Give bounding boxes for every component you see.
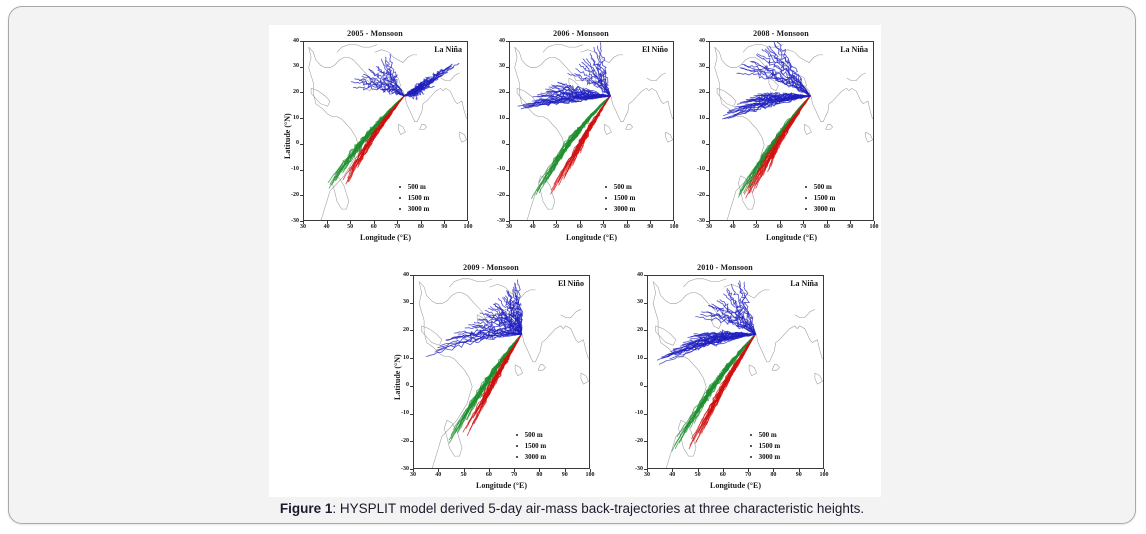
trajectory-layer <box>518 43 610 199</box>
legend-marker-icon <box>750 434 752 436</box>
coastline-path <box>375 50 417 63</box>
x-tick-label: 30 <box>291 224 315 230</box>
y-tick-label: 20 <box>683 89 705 95</box>
coastline-path <box>666 132 673 142</box>
trajectory-path <box>562 96 611 158</box>
y-tick-label: 30 <box>277 63 299 69</box>
legend-marker-icon <box>605 208 607 210</box>
x-tick-label: 30 <box>401 472 425 478</box>
y-tick-label: 20 <box>277 89 299 95</box>
coastline-path <box>804 124 811 134</box>
legend-label: 1500 m <box>814 194 836 202</box>
y-tick-label: 10 <box>683 115 705 121</box>
y-tick-label: -10 <box>277 166 299 172</box>
coastline-path <box>717 88 736 106</box>
y-axis-tick <box>644 303 647 304</box>
coastline-path <box>419 282 472 470</box>
legend-item: 3000 m <box>399 203 430 214</box>
coastline-path <box>309 47 359 221</box>
figure-card: 2005 - MonsoonLa Niña500 m1500 m3000 m30… <box>8 6 1136 524</box>
x-tick-label: 80 <box>761 472 785 478</box>
trajectory-path <box>763 96 810 175</box>
y-axis-tick <box>506 170 509 171</box>
x-tick-label: 100 <box>456 224 480 230</box>
enso-phase-label: El Niño <box>642 45 668 54</box>
y-tick-label: 10 <box>621 355 643 361</box>
trajectory-path <box>369 96 404 148</box>
chart-panel-2005: 2005 - MonsoonLa Niña500 m1500 m3000 m30… <box>277 29 473 247</box>
y-tick-label: 30 <box>683 63 705 69</box>
coastline-layer <box>419 279 588 469</box>
trajectory-path <box>761 96 810 176</box>
y-axis-tick <box>706 195 709 196</box>
y-axis-tick <box>644 358 647 359</box>
legend-marker-icon <box>805 197 807 199</box>
trajectory-path <box>768 96 811 172</box>
x-tick-label: 40 <box>660 472 684 478</box>
x-tick-label: 40 <box>721 224 745 230</box>
y-axis-tick <box>706 118 709 119</box>
legend-item: 500 m <box>805 181 836 192</box>
y-axis-title: Latitude (°N) <box>283 113 292 159</box>
y-tick-label: -20 <box>621 438 643 444</box>
trajectory-layer <box>657 281 755 451</box>
legend-label: 3000 m <box>814 205 836 213</box>
panel-title: 2005 - Monsoon <box>277 29 473 38</box>
x-tick-label: 60 <box>362 224 386 230</box>
legend-item: 500 m <box>516 429 547 440</box>
x-tick-label: 40 <box>315 224 339 230</box>
x-tick-label: 60 <box>768 224 792 230</box>
trajectory-path <box>487 334 522 390</box>
x-axis-title: Longitude (°E) <box>413 481 590 490</box>
trajectory-path <box>358 96 405 168</box>
x-tick-label: 50 <box>744 224 768 230</box>
legend-marker-icon <box>516 434 518 436</box>
coastline-path <box>422 326 442 345</box>
coastline-path <box>826 124 833 129</box>
trajectory-path <box>558 96 611 163</box>
coastline-path <box>311 88 330 106</box>
y-tick-label: -10 <box>683 166 705 172</box>
caption-label: Figure 1 <box>280 501 333 516</box>
height-legend: 500 m1500 m3000 m <box>805 181 836 214</box>
coastline-path <box>543 45 583 53</box>
y-tick-label: -20 <box>683 192 705 198</box>
y-tick-label: 10 <box>483 115 505 121</box>
y-axis-tick <box>506 41 509 42</box>
trajectory-path <box>404 67 453 96</box>
y-axis-tick <box>300 195 303 196</box>
y-tick-label: 40 <box>387 272 409 278</box>
legend-marker-icon <box>750 445 752 447</box>
legend-marker-icon <box>750 456 752 458</box>
y-axis-tick <box>410 330 413 331</box>
coastline-path <box>449 279 492 287</box>
y-axis-tick <box>644 275 647 276</box>
y-tick-label: 30 <box>387 299 409 305</box>
y-axis-tick <box>706 92 709 93</box>
legend-label: 500 m <box>614 183 632 191</box>
trajectory-layer <box>427 280 523 443</box>
legend-marker-icon <box>399 197 401 199</box>
plot-area <box>413 275 590 469</box>
y-axis-tick <box>506 67 509 68</box>
height-legend: 500 m1500 m3000 m <box>605 181 636 214</box>
legend-marker-icon <box>805 208 807 210</box>
x-tick-label: 60 <box>568 224 592 230</box>
y-tick-label: 40 <box>277 38 299 44</box>
x-tick-label: 100 <box>578 472 602 478</box>
legend-item: 500 m <box>605 181 636 192</box>
x-tick-label: 90 <box>787 472 811 478</box>
figure-caption: Figure 1: HYSPLIT model derived 5-day ai… <box>9 501 1135 516</box>
y-tick-label: -30 <box>683 218 705 224</box>
y-axis-tick <box>300 41 303 42</box>
y-tick-label: -30 <box>483 218 505 224</box>
coastline-path <box>656 326 676 345</box>
x-tick-label: 30 <box>635 472 659 478</box>
x-tick-label: 90 <box>432 224 456 230</box>
x-tick-label: 50 <box>338 224 362 230</box>
y-tick-label: -10 <box>387 410 409 416</box>
y-tick-label: 40 <box>683 38 705 44</box>
x-tick-label: 30 <box>497 224 521 230</box>
y-axis-tick <box>706 41 709 42</box>
coastline-path <box>781 50 823 63</box>
y-axis-tick <box>506 221 509 222</box>
trajectory-canvas <box>414 276 590 469</box>
trajectory-canvas <box>648 276 824 469</box>
coastline-path <box>683 279 726 287</box>
x-tick-label: 50 <box>686 472 710 478</box>
y-axis-tick <box>506 92 509 93</box>
plot-area <box>709 41 874 221</box>
legend-marker-icon <box>516 456 518 458</box>
y-tick-label: 20 <box>621 327 643 333</box>
y-axis-tick <box>644 414 647 415</box>
x-tick-label: 90 <box>638 224 662 230</box>
legend-marker-icon <box>605 197 607 199</box>
legend-item: 1500 m <box>805 192 836 203</box>
legend-marker-icon <box>516 445 518 447</box>
coastline-path <box>398 124 405 134</box>
coastline-path <box>795 309 815 317</box>
panel-title: 2008 - Monsoon <box>683 29 879 38</box>
y-axis-tick <box>506 195 509 196</box>
x-axis-title: Longitude (°E) <box>509 233 674 242</box>
y-tick-label: -20 <box>387 438 409 444</box>
y-axis-tick <box>410 386 413 387</box>
y-tick-label: 0 <box>683 140 705 146</box>
y-tick-label: 30 <box>483 63 505 69</box>
chart-panel-2008: 2008 - MonsoonLa Niña500 m1500 m3000 m30… <box>683 29 879 247</box>
x-axis-title: Longitude (°E) <box>647 481 824 490</box>
y-axis-tick <box>706 170 709 171</box>
coastline-path <box>477 315 487 329</box>
trajectory-path <box>756 96 810 188</box>
coastline-path <box>749 365 757 376</box>
legend-label: 3000 m <box>408 205 430 213</box>
legend-label: 3000 m <box>525 453 547 461</box>
chart-panel-2009: 2009 - MonsoonEl Niño500 m1500 m3000 m30… <box>387 263 595 495</box>
coastline-path <box>815 373 823 384</box>
y-tick-label: 40 <box>621 272 643 278</box>
y-tick-label: 0 <box>483 140 505 146</box>
y-tick-label: -10 <box>621 410 643 416</box>
y-axis-tick <box>410 414 413 415</box>
y-tick-label: -10 <box>483 166 505 172</box>
coastline-path <box>561 309 581 317</box>
coastline-path <box>772 365 780 371</box>
legend-marker-icon <box>805 186 807 188</box>
y-axis-tick <box>706 144 709 145</box>
x-tick-label: 70 <box>502 472 526 478</box>
trajectory-path <box>771 96 810 166</box>
legend-label: 500 m <box>408 183 426 191</box>
coastline-path <box>515 47 565 221</box>
y-tick-label: -20 <box>277 192 299 198</box>
enso-phase-label: La Niña <box>840 45 868 54</box>
plot-area <box>647 275 824 469</box>
y-tick-label: 40 <box>483 38 505 44</box>
coastline-path <box>420 124 427 129</box>
trajectory-path <box>762 96 811 177</box>
y-axis-title: Latitude (°N) <box>393 354 402 400</box>
panel-title: 2010 - Monsoon <box>621 263 829 272</box>
chart-panel-2006: 2006 - MonsoonEl Niño500 m1500 m3000 m30… <box>483 29 679 247</box>
x-tick-label: 100 <box>862 224 881 230</box>
coastline-path <box>581 373 589 384</box>
coastline-path <box>647 73 666 81</box>
enso-phase-label: El Niño <box>558 279 584 288</box>
y-axis-tick <box>644 386 647 387</box>
x-tick-label: 70 <box>591 224 615 230</box>
trajectory-path <box>359 96 405 166</box>
y-axis-tick <box>410 358 413 359</box>
y-axis-tick <box>300 221 303 222</box>
y-axis-tick <box>300 170 303 171</box>
y-axis-tick <box>410 303 413 304</box>
y-axis-tick <box>706 221 709 222</box>
coastline-path <box>332 176 349 209</box>
y-axis-tick <box>300 118 303 119</box>
plot-area <box>303 41 468 221</box>
coastline-path <box>337 45 377 53</box>
trajectory-layer <box>328 54 459 188</box>
y-axis-tick <box>644 469 647 470</box>
y-axis-tick <box>410 469 413 470</box>
y-axis-tick <box>706 67 709 68</box>
y-tick-label: -30 <box>387 466 409 472</box>
y-axis-tick <box>300 67 303 68</box>
coastline-path <box>847 73 866 81</box>
x-tick-label: 90 <box>838 224 862 230</box>
y-tick-label: -30 <box>277 218 299 224</box>
y-axis-tick <box>506 118 509 119</box>
legend-label: 1500 m <box>759 442 781 450</box>
legend-item: 1500 m <box>399 192 430 203</box>
panel-title: 2006 - Monsoon <box>483 29 679 38</box>
legend-item: 1500 m <box>605 192 636 203</box>
x-tick-label: 90 <box>553 472 577 478</box>
x-tick-label: 40 <box>521 224 545 230</box>
legend-marker-icon <box>399 208 401 210</box>
coastline-path <box>626 124 633 129</box>
chart-panel-2010: 2010 - MonsoonLa Niña500 m1500 m3000 m30… <box>621 263 829 495</box>
x-axis-title: Longitude (°E) <box>709 233 874 242</box>
x-tick-label: 60 <box>477 472 501 478</box>
caption-text: : HYSPLIT model derived 5-day air-mass b… <box>332 501 864 516</box>
x-axis-title: Longitude (°E) <box>303 233 468 242</box>
x-tick-label: 40 <box>426 472 450 478</box>
legend-item: 500 m <box>750 429 781 440</box>
enso-phase-label: La Niña <box>434 45 462 54</box>
x-tick-label: 80 <box>815 224 839 230</box>
trajectory-canvas <box>304 42 468 221</box>
panel-title: 2009 - Monsoon <box>387 263 595 272</box>
y-axis-tick <box>410 441 413 442</box>
legend-item: 3000 m <box>750 451 781 462</box>
x-tick-label: 30 <box>697 224 721 230</box>
legend-label: 1500 m <box>408 194 430 202</box>
trajectory-path <box>776 42 810 96</box>
legend-label: 1500 m <box>614 194 636 202</box>
legend-item: 3000 m <box>516 451 547 462</box>
y-axis-tick <box>410 275 413 276</box>
coastline-path <box>460 132 467 142</box>
trajectory-layer <box>723 42 811 198</box>
legend-item: 3000 m <box>605 203 636 214</box>
y-tick-label: -20 <box>483 192 505 198</box>
legend-item: 3000 m <box>805 203 836 214</box>
coastline-path <box>604 124 611 134</box>
x-tick-label: 80 <box>409 224 433 230</box>
x-tick-label: 50 <box>544 224 568 230</box>
figure-image: 2005 - MonsoonLa Niña500 m1500 m3000 m30… <box>269 25 881 497</box>
plot-area <box>509 41 674 221</box>
trajectory-path <box>561 96 611 159</box>
y-tick-label: -30 <box>621 466 643 472</box>
legend-label: 3000 m <box>759 453 781 461</box>
x-tick-label: 60 <box>711 472 735 478</box>
y-axis-tick <box>300 144 303 145</box>
x-tick-label: 70 <box>385 224 409 230</box>
enso-phase-label: La Niña <box>790 279 818 288</box>
legend-label: 500 m <box>759 431 777 439</box>
x-tick-label: 70 <box>736 472 760 478</box>
coastline-path <box>515 365 523 376</box>
legend-label: 500 m <box>525 431 543 439</box>
legend-marker-icon <box>605 186 607 188</box>
height-legend: 500 m1500 m3000 m <box>516 429 547 462</box>
height-legend: 500 m1500 m3000 m <box>399 181 430 214</box>
y-axis-tick <box>300 92 303 93</box>
trajectory-path <box>349 96 404 182</box>
y-axis-tick <box>644 441 647 442</box>
legend-item: 500 m <box>399 181 430 192</box>
legend-label: 3000 m <box>614 205 636 213</box>
y-axis-tick <box>644 330 647 331</box>
trajectory-path <box>753 96 811 192</box>
coastline-path <box>866 132 873 142</box>
y-tick-label: 20 <box>387 327 409 333</box>
x-tick-label: 70 <box>791 224 815 230</box>
legend-label: 500 m <box>814 183 832 191</box>
x-tick-label: 100 <box>812 472 836 478</box>
height-legend: 500 m1500 m3000 m <box>750 429 781 462</box>
x-tick-label: 50 <box>452 472 476 478</box>
x-tick-label: 80 <box>615 224 639 230</box>
y-tick-label: 0 <box>621 382 643 388</box>
trajectory-path <box>769 96 810 169</box>
legend-marker-icon <box>399 186 401 188</box>
x-tick-label: 80 <box>527 472 551 478</box>
y-axis-tick <box>506 144 509 145</box>
legend-item: 1500 m <box>516 440 547 451</box>
y-tick-label: 20 <box>483 89 505 95</box>
y-tick-label: 30 <box>621 299 643 305</box>
trajectory-canvas <box>510 42 674 221</box>
legend-item: 1500 m <box>750 440 781 451</box>
legend-label: 1500 m <box>525 442 547 450</box>
trajectory-canvas <box>710 42 874 221</box>
coastline-path <box>538 365 546 371</box>
